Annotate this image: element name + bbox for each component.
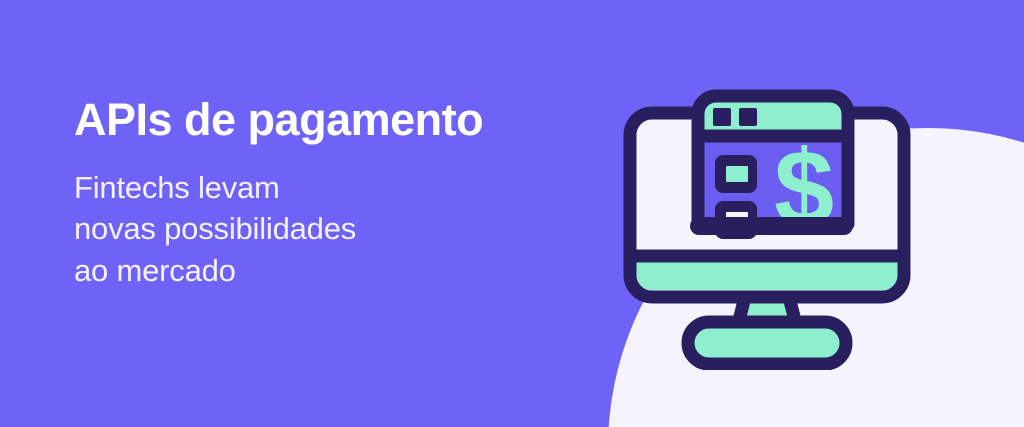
page-subtitle: Fintechs levam novas possibilidades ao m… bbox=[74, 143, 574, 291]
subtitle-line-1: Fintechs levam bbox=[74, 167, 574, 208]
subtitle-line-2: novas possibilidades bbox=[74, 208, 574, 249]
page-title: APIs de pagamento bbox=[74, 96, 574, 143]
payment-window: $ bbox=[690, 96, 853, 248]
window-dot-icon-1 bbox=[713, 108, 731, 126]
checkbox-icon-filled-inner bbox=[726, 166, 748, 182]
promo-banner: APIs de pagamento Fintechs levam novas p… bbox=[0, 0, 1024, 427]
monitor-base bbox=[688, 322, 846, 364]
window-dot-icon-2 bbox=[739, 108, 757, 126]
text-block: APIs de pagamento Fintechs levam novas p… bbox=[74, 96, 574, 291]
payment-window-counter-bar bbox=[690, 217, 853, 235]
subtitle-line-3: ao mercado bbox=[74, 250, 574, 291]
payment-monitor-illustration: $ bbox=[612, 60, 922, 370]
